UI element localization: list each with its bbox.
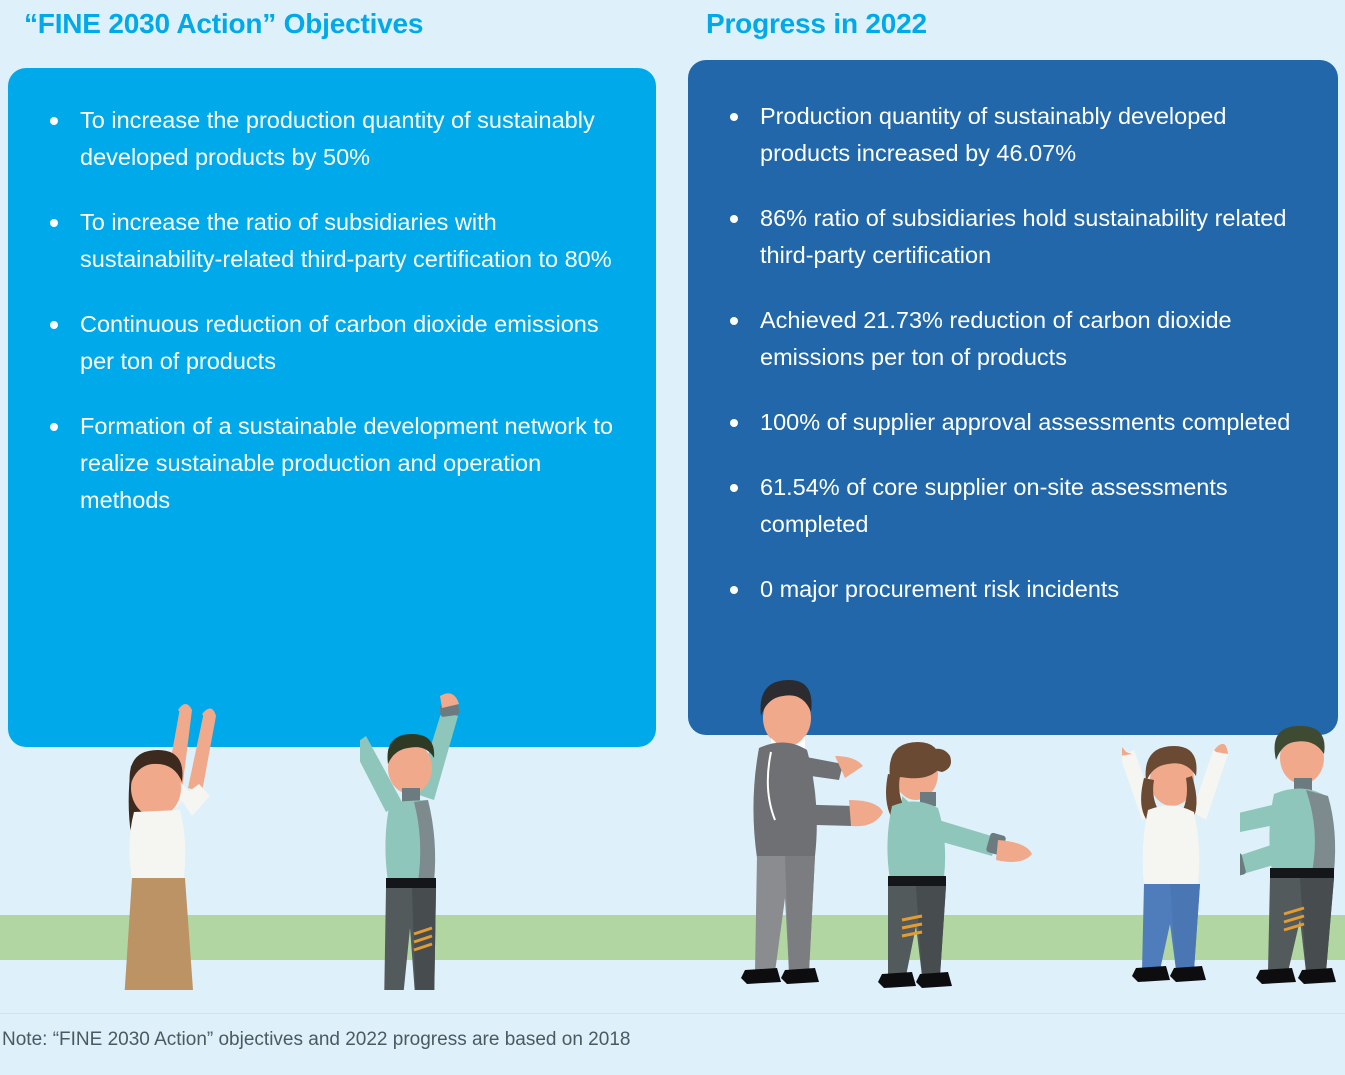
list-item: To increase the ratio of subsidiaries wi… (38, 204, 628, 278)
infographic-canvas: “FINE 2030 Action” Objectives Progress i… (0, 0, 1345, 1075)
objectives-bullet-list: To increase the production quantity of s… (38, 102, 628, 519)
list-item: Formation of a sustainable development n… (38, 408, 628, 519)
list-item-text: Continuous reduction of carbon dioxide e… (80, 311, 599, 374)
footer-divider (0, 1013, 1345, 1014)
list-item-text: To increase the ratio of subsidiaries wi… (80, 209, 612, 272)
page-title-objectives: “FINE 2030 Action” Objectives (24, 8, 423, 40)
panel-progress: Production quantity of sustainably devel… (688, 60, 1338, 735)
list-item: 86% ratio of subsidiaries hold sustainab… (718, 200, 1318, 274)
illustration-woman-teal-gesturing (868, 730, 1078, 990)
list-item-text: To increase the production quantity of s… (80, 107, 595, 170)
bullet-dot-icon (730, 586, 738, 594)
list-item: Production quantity of sustainably devel… (718, 98, 1318, 172)
list-item: 100% of supplier approval assessments co… (718, 404, 1318, 441)
bullet-dot-icon (50, 321, 58, 329)
list-item-text: 100% of supplier approval assessments co… (760, 409, 1290, 435)
illustration-woman-cheering-tan (104, 700, 294, 990)
bullet-dot-icon (730, 113, 738, 121)
page-title-progress: Progress in 2022 (706, 8, 927, 40)
footer-note: Note: “FINE 2030 Action” objectives and … (2, 1029, 630, 1051)
progress-bullet-list: Production quantity of sustainably devel… (718, 98, 1318, 608)
list-item: 0 major procurement risk incidents (718, 571, 1318, 608)
list-item-text: Production quantity of sustainably devel… (760, 103, 1226, 166)
panel-objectives: To increase the production quantity of s… (8, 68, 656, 747)
bullet-dot-icon (50, 423, 58, 431)
list-item: 61.54% of core supplier on-site assessme… (718, 469, 1318, 543)
bullet-dot-icon (50, 219, 58, 227)
bullet-dot-icon (50, 117, 58, 125)
bullet-dot-icon (730, 419, 738, 427)
illustration-man-teal-pointing (1240, 718, 1345, 986)
bullet-dot-icon (730, 484, 738, 492)
list-item: Continuous reduction of carbon dioxide e… (38, 306, 628, 380)
list-item-text: 86% ratio of subsidiaries hold sustainab… (760, 205, 1286, 268)
list-item: Achieved 21.73% reduction of carbon diox… (718, 302, 1318, 376)
list-item-text: 0 major procurement risk incidents (760, 576, 1119, 602)
bullet-dot-icon (730, 215, 738, 223)
list-item: To increase the production quantity of s… (38, 102, 628, 176)
list-item-text: Achieved 21.73% reduction of carbon diox… (760, 307, 1232, 370)
list-item-text: 61.54% of core supplier on-site assessme… (760, 474, 1228, 537)
bullet-dot-icon (730, 317, 738, 325)
illustration-man-cheering-left (360, 690, 575, 990)
list-item-text: Formation of a sustainable development n… (80, 413, 613, 513)
